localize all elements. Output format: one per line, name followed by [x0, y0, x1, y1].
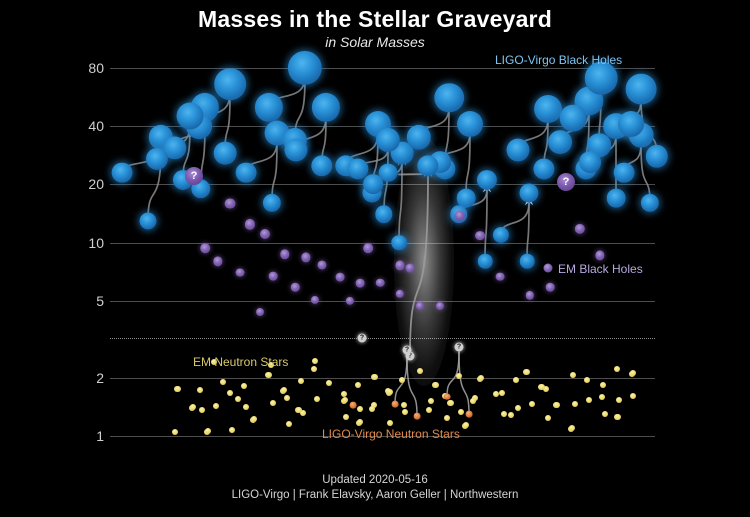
ligo-virgo-black-hole-remnant [214, 68, 246, 100]
y-tick-label-80: 80 [88, 60, 104, 76]
y-tick-label-5: 5 [96, 293, 104, 309]
chart-subtitle: in Solar Masses [0, 34, 750, 50]
em-neutron-star [175, 386, 181, 392]
em-neutron-star [298, 378, 304, 384]
em-black-hole [317, 260, 326, 269]
ligo-virgo-black-hole [457, 189, 476, 208]
merger-connector [485, 189, 487, 261]
em-black-hole [406, 264, 415, 273]
footer-updated: Updated 2020-05-16 [0, 473, 750, 488]
em-neutron-star [205, 428, 211, 434]
em-neutron-star [478, 375, 484, 381]
ligo-virgo-black-hole-remnant [519, 184, 538, 203]
em-neutron-star [281, 387, 287, 393]
em-neutron-star [615, 414, 621, 420]
em-neutron-star [599, 394, 605, 400]
em-neutron-star [456, 373, 462, 379]
em-neutron-star [539, 384, 545, 390]
em-neutron-star [570, 372, 576, 378]
em-neutron-star [499, 390, 505, 396]
plot-area: 80402010521 ?????? LIGO-Virgo Black Hole… [110, 55, 655, 445]
y-tick-label-2: 2 [96, 370, 104, 386]
em-neutron-star [326, 380, 332, 386]
legend-label-em-neutron-stars: EM Neutron Stars [193, 355, 288, 369]
ligo-virgo-black-hole [112, 162, 133, 183]
em-neutron-star [190, 404, 196, 410]
legend-label-ligo-virgo-black-holes: LIGO-Virgo Black Holes [495, 53, 622, 67]
em-black-hole [496, 272, 505, 281]
em-black-hole [200, 243, 210, 253]
em-neutron-star [172, 429, 178, 435]
em-neutron-star [614, 366, 620, 372]
em-black-hole [336, 273, 345, 282]
em-neutron-star [266, 372, 272, 378]
em-black-hole [260, 229, 270, 239]
em-neutron-star [312, 358, 318, 364]
merger-connector [407, 355, 417, 416]
legend-label-em-black-holes: EM Black Holes [558, 262, 643, 276]
em-neutron-star [463, 422, 469, 428]
chart-title: Masses in the Stellar Graveyard [0, 6, 750, 33]
ligo-virgo-neutron-star [444, 393, 451, 400]
ligo-virgo-black-hole [618, 111, 644, 137]
em-neutron-star [545, 415, 551, 421]
em-neutron-star [401, 402, 407, 408]
em-black-hole [269, 272, 278, 281]
ligo-virgo-black-hole-remnant [457, 111, 483, 137]
ligo-virgo-black-hole [478, 254, 493, 269]
y-tick-label-40: 40 [88, 118, 104, 134]
em-neutron-star [602, 411, 608, 417]
em-neutron-star [399, 377, 405, 383]
em-neutron-star [529, 401, 535, 407]
em-neutron-star [296, 407, 302, 413]
footer-credits: LIGO-Virgo | Frank Elavsky, Aaron Geller… [0, 488, 750, 503]
y-tick-label-1: 1 [96, 428, 104, 444]
ligo-virgo-black-hole [560, 105, 587, 132]
em-black-hole [356, 278, 365, 287]
em-neutron-star [402, 409, 408, 415]
em-neutron-star [213, 403, 219, 409]
em-neutron-star [355, 382, 361, 388]
em-neutron-star [227, 390, 233, 396]
y-tick-label-10: 10 [88, 235, 104, 251]
em-neutron-star [235, 396, 241, 402]
em-neutron-star [616, 397, 622, 403]
ligo-virgo-neutron-star [392, 401, 399, 408]
em-neutron-star [524, 369, 530, 375]
em-neutron-star [554, 402, 560, 408]
em-neutron-star [357, 419, 363, 425]
ligo-virgo-black-hole [579, 151, 601, 173]
unknown-remnant-marker: ? [455, 342, 464, 351]
chart-canvas: Masses in the Stellar Graveyard in Solar… [0, 0, 750, 517]
unknown-remnant-marker: ? [358, 334, 367, 343]
em-neutron-star [342, 397, 348, 403]
ligo-virgo-neutron-star [466, 411, 473, 418]
ligo-virgo-black-hole [146, 148, 168, 170]
em-neutron-star [569, 425, 575, 431]
unknown-remnant-marker: ? [403, 345, 412, 354]
em-neutron-star [508, 412, 514, 418]
ligo-virgo-black-hole [236, 162, 257, 183]
em-neutron-star [513, 377, 519, 383]
em-black-hole [363, 243, 373, 253]
em-neutron-star [426, 407, 432, 413]
em-neutron-star [357, 406, 363, 412]
ligo-virgo-black-hole [140, 212, 157, 229]
ligo-virgo-black-hole [379, 163, 398, 182]
ligo-virgo-black-hole [285, 139, 308, 162]
em-neutron-star [448, 400, 454, 406]
merger-connector [459, 352, 469, 414]
em-neutron-star [572, 401, 578, 407]
ligo-virgo-black-hole [520, 254, 535, 269]
em-neutron-star [229, 427, 235, 433]
em-neutron-star [199, 407, 205, 413]
legend-label-ligo-virgo-neutron-stars: LIGO-Virgo Neutron Stars [322, 427, 460, 441]
em-neutron-star [630, 370, 636, 376]
ligo-virgo-black-hole [641, 194, 659, 212]
em-neutron-star [343, 414, 349, 420]
em-neutron-star [314, 396, 320, 402]
em-neutron-star [270, 400, 276, 406]
em-black-hole [291, 283, 300, 292]
em-neutron-star [444, 415, 450, 421]
em-neutron-star [428, 398, 434, 404]
unknown-em-black-hole-marker: ? [185, 167, 203, 185]
ligo-virgo-neutron-star [350, 401, 357, 408]
em-neutron-star [470, 398, 476, 404]
y-tick-label-20: 20 [88, 176, 104, 192]
em-neutron-star [600, 382, 606, 388]
em-neutron-star [387, 420, 393, 426]
ligo-virgo-black-hole-remnant [177, 103, 204, 130]
em-black-hole [256, 308, 264, 316]
ligo-virgo-black-hole [493, 227, 509, 243]
em-neutron-star [197, 387, 203, 393]
em-neutron-star [417, 368, 423, 374]
ligo-virgo-black-hole-remnant [534, 95, 562, 123]
ligo-virgo-black-hole [614, 162, 635, 183]
em-neutron-star [243, 404, 249, 410]
em-black-hole [236, 268, 245, 277]
ligo-virgo-black-hole [548, 130, 572, 154]
ligo-virgo-black-hole [214, 142, 237, 165]
em-neutron-star [433, 382, 439, 388]
em-neutron-star [458, 409, 464, 415]
em-neutron-star [493, 391, 499, 397]
ligo-virgo-black-hole-remnant [434, 83, 464, 113]
em-neutron-star [630, 393, 636, 399]
em-neutron-star [372, 374, 378, 380]
em-neutron-star [369, 406, 375, 412]
ligo-virgo-black-hole [507, 139, 530, 162]
ligo-virgo-neutron-star [414, 413, 421, 420]
em-black-hole [475, 231, 485, 241]
em-neutron-star [251, 416, 257, 422]
em-neutron-star [387, 389, 393, 395]
em-neutron-star [241, 383, 247, 389]
em-black-hole [546, 283, 555, 292]
em-neutron-star [586, 397, 592, 403]
unknown-em-black-hole-marker: ? [557, 173, 575, 191]
em-neutron-star [311, 366, 317, 372]
em-black-hole [225, 198, 236, 209]
ligo-virgo-black-hole [607, 189, 626, 208]
ligo-virgo-black-hole [391, 235, 407, 251]
em-neutron-star [501, 411, 507, 417]
em-neutron-star [220, 379, 226, 385]
ligo-virgo-black-hole-remnant [626, 74, 657, 105]
ligo-virgo-black-hole [646, 145, 668, 167]
em-neutron-star [284, 395, 290, 401]
em-neutron-star [584, 377, 590, 383]
legend-marker-em-black-holes [544, 264, 553, 273]
em-black-hole [376, 278, 385, 287]
em-neutron-star [286, 421, 292, 427]
em-neutron-star [515, 405, 521, 411]
